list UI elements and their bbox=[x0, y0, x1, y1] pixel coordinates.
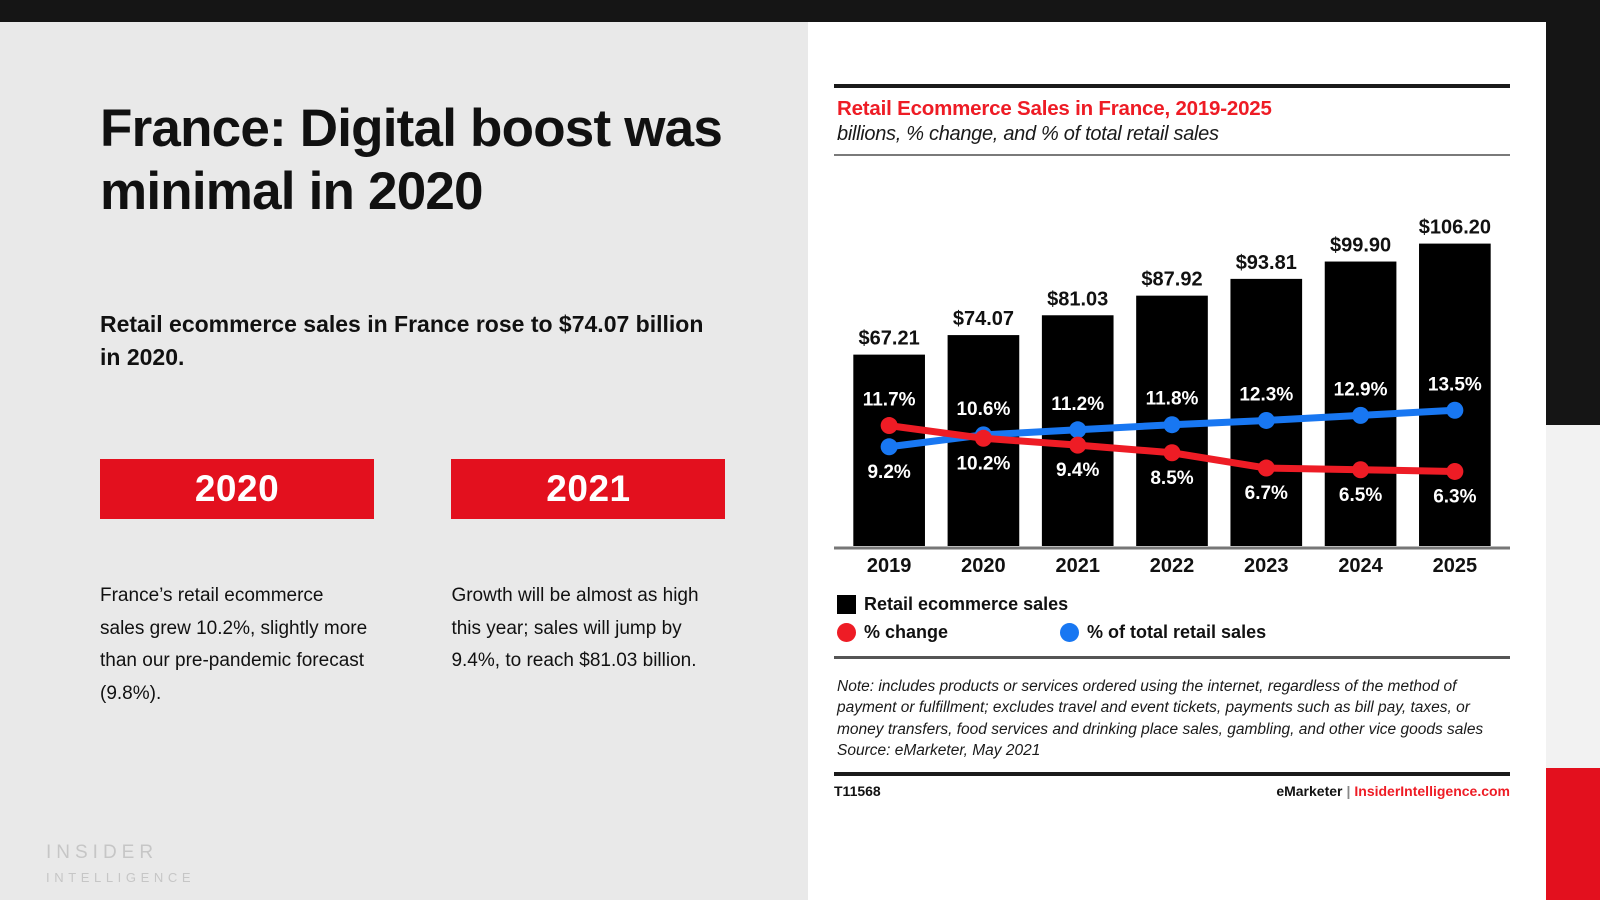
point-pct-of-total-2024 bbox=[1352, 407, 1369, 424]
point-pct-of-total-2025 bbox=[1446, 402, 1463, 419]
point-pct-of-total-2023 bbox=[1258, 412, 1275, 429]
bar-value-label-2020: $74.07 bbox=[953, 308, 1014, 330]
legend-label-pct-total: % of total retail sales bbox=[1087, 622, 1266, 643]
x-tick-2023: 2023 bbox=[1244, 555, 1289, 574]
year-badge-2020: 2020 bbox=[100, 459, 374, 519]
point-pct-change-2021 bbox=[1069, 437, 1086, 454]
chart-source-text: Source: eMarketer, May 2021 bbox=[837, 740, 1510, 761]
x-tick-2024: 2024 bbox=[1338, 555, 1383, 574]
chart-panel: Retail Ecommerce Sales in France, 2019-2… bbox=[808, 22, 1546, 900]
point-pct-change-2020 bbox=[975, 430, 992, 447]
brand-credit: eMarketer|InsiderIntelligence.com bbox=[1276, 783, 1510, 799]
left-content-panel: France: Digital boost was minimal in 202… bbox=[0, 22, 808, 900]
brand-insiderintelligence: InsiderIntelligence.com bbox=[1354, 783, 1510, 799]
chart-id: T11568 bbox=[834, 783, 881, 799]
point-pct-of-total-2021 bbox=[1069, 421, 1086, 438]
chart-footer: T11568 eMarketer|InsiderIntelligence.com bbox=[834, 776, 1510, 799]
x-tick-2022: 2022 bbox=[1150, 555, 1195, 574]
label-pct-change-2022: 8.5% bbox=[1150, 468, 1193, 489]
label-pct-of-total-2021: 11.2% bbox=[1051, 394, 1104, 415]
body-column-2021: Growth will be almost as high this year;… bbox=[451, 580, 723, 678]
insider-intelligence-logo: INSIDER INTELLIGENCE bbox=[46, 842, 195, 885]
point-pct-change-2022 bbox=[1164, 444, 1181, 461]
chart-card: Retail Ecommerce Sales in France, 2019-2… bbox=[834, 84, 1510, 799]
legend-label-pct-change: % change bbox=[864, 622, 948, 643]
right-edge-red-band bbox=[1546, 768, 1600, 900]
point-pct-change-2024 bbox=[1352, 461, 1369, 478]
point-pct-change-2019 bbox=[881, 417, 898, 434]
logo-line-insider: INSIDER bbox=[46, 842, 195, 864]
label-pct-change-2025: 6.3% bbox=[1433, 486, 1476, 507]
divider-under-subtitle bbox=[834, 154, 1510, 156]
x-tick-2025: 2025 bbox=[1433, 555, 1478, 574]
chart-note-text: Note: includes products or services orde… bbox=[837, 676, 1510, 740]
label-pct-of-total-2020: 10.6% bbox=[956, 399, 1010, 420]
chart-subtitle: billions, % change, and % of total retai… bbox=[834, 123, 1510, 154]
page-title: France: Digital boost was minimal in 202… bbox=[100, 98, 760, 223]
label-pct-change-2024: 6.5% bbox=[1339, 485, 1382, 506]
chart-note: Note: includes products or services orde… bbox=[834, 667, 1510, 762]
top-black-bar bbox=[0, 0, 1546, 22]
right-edge-dark-band bbox=[1546, 0, 1600, 425]
point-pct-of-total-2019 bbox=[881, 438, 898, 455]
label-pct-of-total-2022: 11.8% bbox=[1146, 389, 1199, 410]
label-pct-of-total-2023: 12.3% bbox=[1239, 384, 1293, 405]
right-edge-gray-band bbox=[1546, 425, 1600, 768]
label-pct-of-total-2025: 13.5% bbox=[1428, 374, 1482, 395]
subheadline: Retail ecommerce sales in France rose to… bbox=[100, 308, 710, 375]
legend-row-bars: Retail ecommerce sales bbox=[837, 590, 1510, 618]
brand-divider: | bbox=[1342, 783, 1354, 799]
legend-swatch-blue-dot-icon bbox=[1060, 623, 1079, 642]
x-tick-2020: 2020 bbox=[961, 555, 1006, 574]
label-pct-change-2020: 10.2% bbox=[956, 453, 1010, 474]
body-column-group: France’s retail ecommerce sales grew 10.… bbox=[100, 580, 740, 711]
label-pct-change-2021: 9.4% bbox=[1056, 460, 1099, 481]
label-pct-change-2023: 6.7% bbox=[1245, 483, 1288, 504]
label-pct-of-total-2019: 9.2% bbox=[867, 462, 910, 483]
body-column-2020: France’s retail ecommerce sales grew 10.… bbox=[100, 580, 372, 711]
point-pct-change-2025 bbox=[1446, 463, 1463, 480]
bar-value-label-2022: $87.92 bbox=[1141, 269, 1202, 291]
slide-canvas: France: Digital boost was minimal in 202… bbox=[0, 0, 1600, 900]
legend-swatch-bar-icon bbox=[837, 595, 856, 614]
chart-plot-area: $67.21$74.07$81.03$87.92$93.81$99.90$106… bbox=[834, 174, 1510, 574]
bar-value-label-2019: $67.21 bbox=[859, 328, 920, 350]
bar-value-label-2025: $106.20 bbox=[1419, 217, 1491, 239]
chart-title: Retail Ecommerce Sales in France, 2019-2… bbox=[834, 88, 1510, 123]
point-pct-of-total-2022 bbox=[1164, 416, 1181, 433]
legend-row-lines: % change % of total retail sales bbox=[837, 618, 1510, 646]
legend-swatch-red-dot-icon bbox=[837, 623, 856, 642]
bar-value-label-2024: $99.90 bbox=[1330, 235, 1391, 257]
combo-chart-svg: $67.21$74.07$81.03$87.92$93.81$99.90$106… bbox=[834, 174, 1510, 574]
year-badge-group: 2020 2021 bbox=[100, 459, 725, 519]
label-pct-change-2019: 11.7% bbox=[863, 390, 916, 411]
point-pct-change-2023 bbox=[1258, 460, 1275, 477]
legend-label-bars: Retail ecommerce sales bbox=[864, 594, 1068, 615]
x-tick-2021: 2021 bbox=[1055, 555, 1100, 574]
chart-legend: Retail ecommerce sales % change % of tot… bbox=[834, 590, 1510, 646]
logo-line-intelligence: INTELLIGENCE bbox=[46, 870, 195, 885]
brand-emarketer: eMarketer bbox=[1276, 783, 1342, 799]
year-badge-2021: 2021 bbox=[451, 459, 725, 519]
divider-above-note bbox=[834, 656, 1510, 659]
label-pct-of-total-2024: 12.9% bbox=[1334, 379, 1388, 400]
x-tick-2019: 2019 bbox=[867, 555, 912, 574]
bar-value-label-2021: $81.03 bbox=[1047, 288, 1108, 310]
bar-value-label-2023: $93.81 bbox=[1236, 252, 1297, 274]
